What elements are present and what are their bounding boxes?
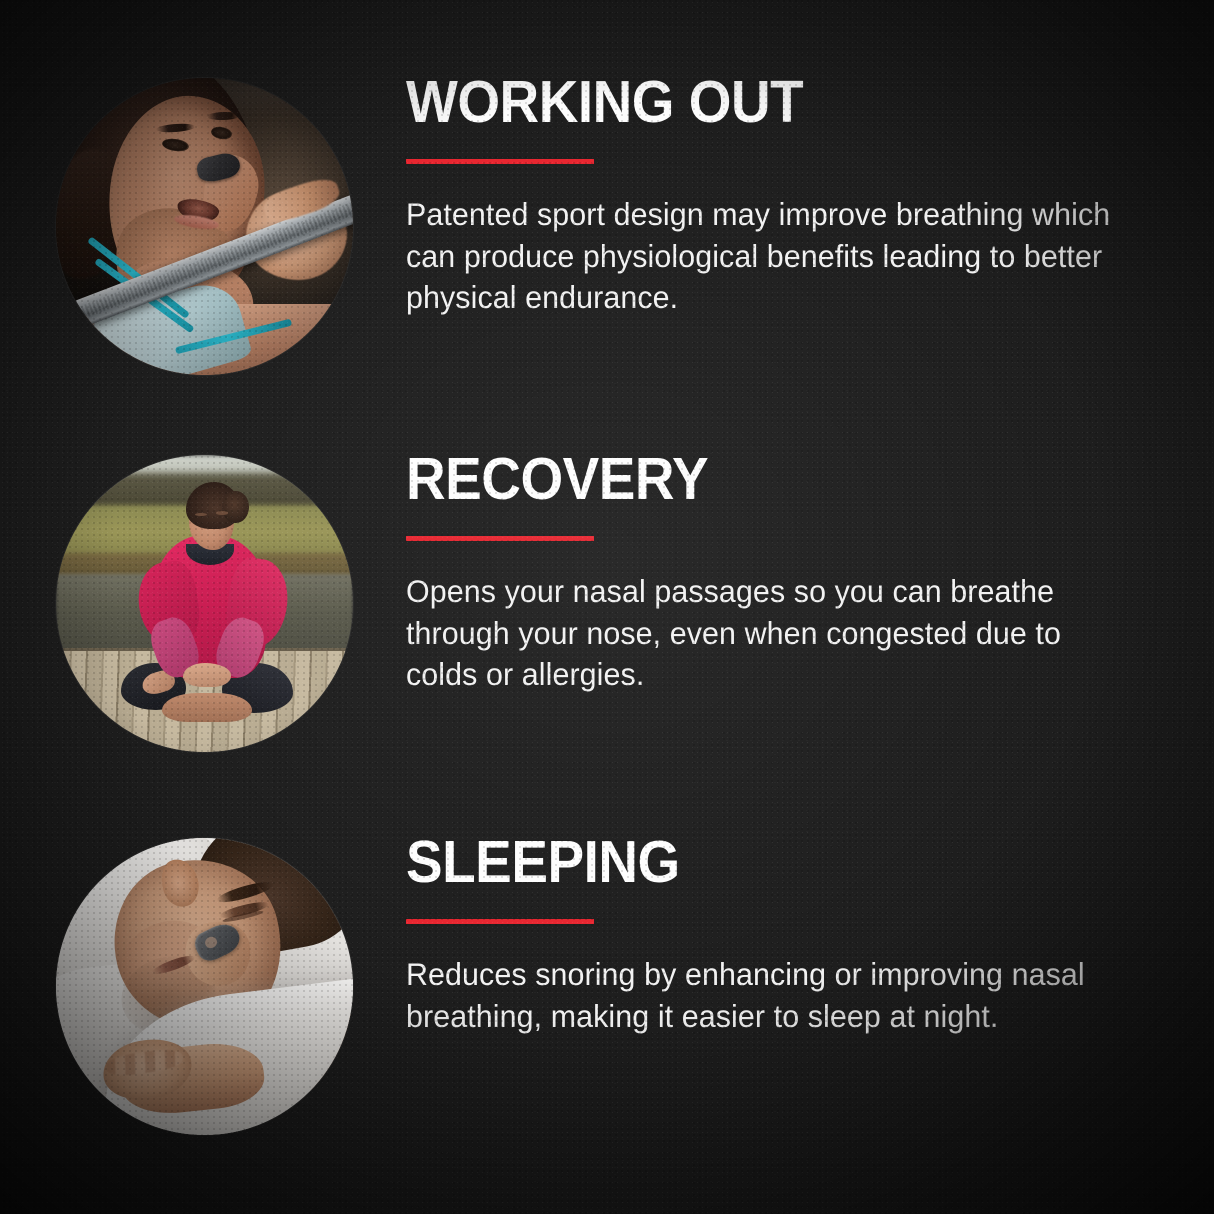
photo-sleeping-scene: [56, 838, 353, 1135]
benefit-media-working-out: [0, 78, 406, 375]
accent-rule: [406, 536, 594, 541]
benefit-heading: RECOVERY: [406, 451, 1102, 508]
accent-rule: [406, 159, 594, 164]
benefit-copy-sleeping: SLEEPING Reduces snoring by enhancing or…: [406, 834, 1214, 1037]
photo-recovery-scene: [56, 455, 353, 752]
benefit-media-recovery: [0, 455, 406, 752]
benefit-heading: SLEEPING: [406, 834, 1102, 891]
benefit-copy-working-out: WORKING OUT Patented sport design may im…: [406, 74, 1214, 319]
benefits-infographic: WORKING OUT Patented sport design may im…: [0, 0, 1214, 1214]
benefit-body: Patented sport design may improve breath…: [406, 194, 1120, 320]
accent-rule: [406, 919, 594, 924]
benefit-section-sleeping: SLEEPING Reduces snoring by enhancing or…: [0, 838, 1214, 1135]
benefit-body: Opens your nasal passages so you can bre…: [406, 571, 1120, 697]
photo-sleeping: [56, 838, 353, 1135]
photo-vignette: [56, 455, 353, 752]
benefit-heading: WORKING OUT: [406, 74, 1102, 131]
photo-vignette: [56, 838, 353, 1135]
photo-vignette: [56, 78, 353, 375]
benefit-media-sleeping: [0, 838, 406, 1135]
benefit-section-working-out: WORKING OUT Patented sport design may im…: [0, 78, 1214, 375]
benefit-body: Reduces snoring by enhancing or improvin…: [406, 954, 1120, 1038]
benefit-section-recovery: RECOVERY Opens your nasal passages so yo…: [0, 455, 1214, 752]
benefit-copy-recovery: RECOVERY Opens your nasal passages so yo…: [406, 451, 1214, 696]
photo-working-out: [56, 78, 353, 375]
photo-working-out-scene: [56, 78, 353, 375]
photo-recovery: [56, 455, 353, 752]
